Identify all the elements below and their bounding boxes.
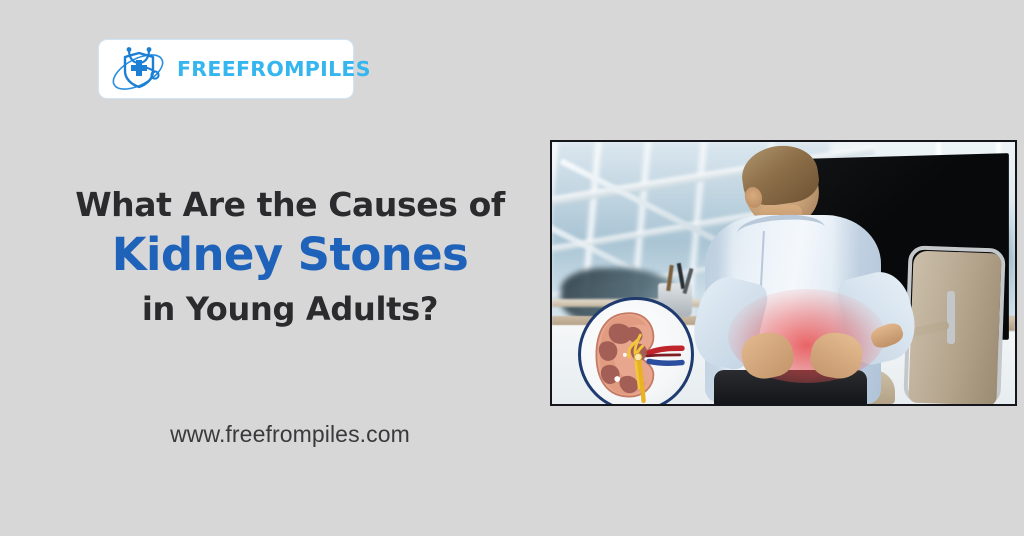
shield-medical-cross-stethoscope-orbit-logo-icon (107, 44, 171, 94)
site-url-text: www.freefrompiles.com (60, 421, 520, 448)
office-chair-arm-post (947, 291, 955, 343)
kidney-anatomy-icon (581, 300, 691, 404)
hero-photo (550, 140, 1017, 406)
headline-line-3: in Young Adults? (60, 291, 520, 329)
page-title: What Are the Causes of Kidney Stones in … (60, 186, 520, 328)
headline-line-1: What Are the Causes of (60, 186, 520, 224)
logo-wordmark: FREEFROMPILES (177, 57, 371, 81)
site-logo[interactable]: FREEFROMPILES (98, 39, 354, 99)
kidney-cross-section-diagram (578, 297, 694, 404)
hero-photo-scene (552, 142, 1015, 404)
headline-line-2-highlight: Kidney Stones (60, 227, 520, 283)
